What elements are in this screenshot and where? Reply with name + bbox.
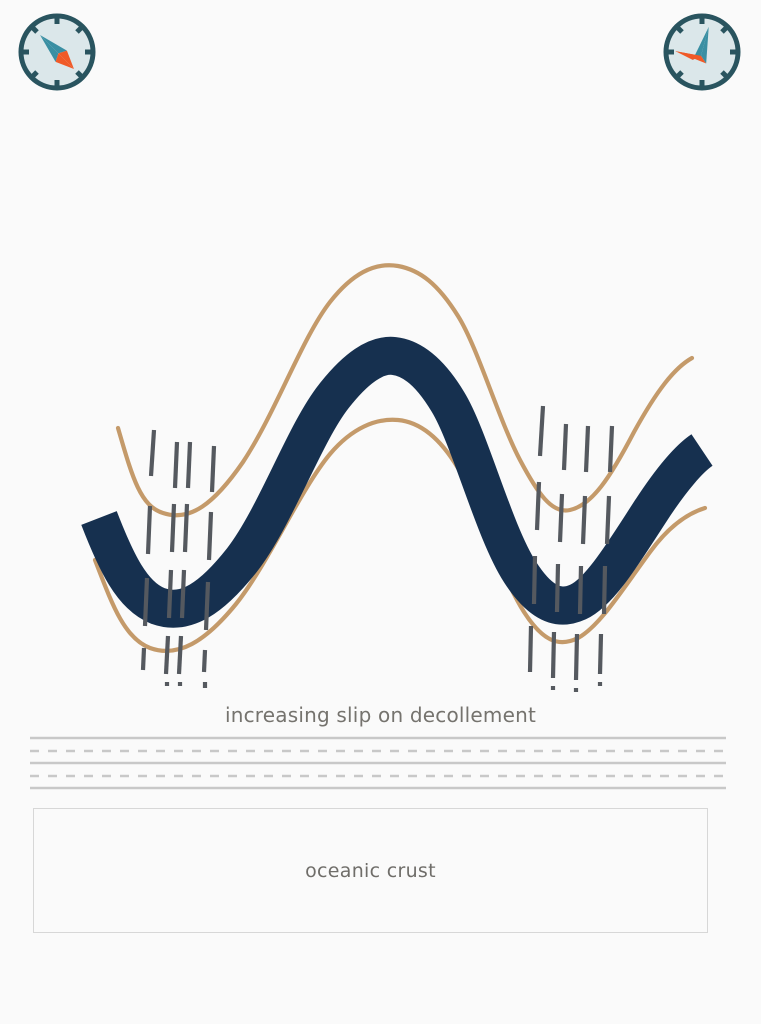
oceanic-crust-box: oceanic crust xyxy=(33,808,708,933)
cleavage-ticks-right xyxy=(530,406,612,692)
decollement-zone xyxy=(30,733,726,793)
compass-left[interactable] xyxy=(15,10,99,94)
compass-right[interactable] xyxy=(660,10,744,94)
oceanic-crust-label: oceanic crust xyxy=(305,860,436,882)
diagram-page: increasing slip on decollement oceanic c… xyxy=(0,0,761,1024)
fold-envelope-upper xyxy=(118,265,692,515)
fold-cross-section xyxy=(0,230,761,700)
slip-label: increasing slip on decollement xyxy=(0,703,761,727)
